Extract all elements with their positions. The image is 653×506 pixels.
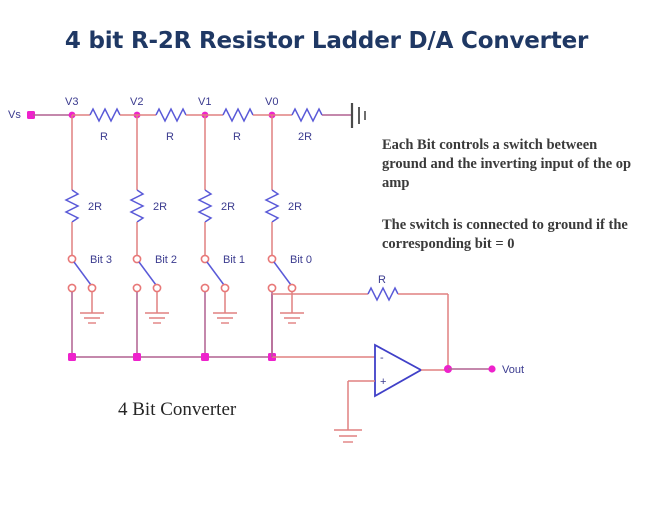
switch-terminal-left-bit3[interactable] xyxy=(68,284,75,291)
switch-terminal-left-bit0[interactable] xyxy=(268,284,275,291)
bus-node-dot-bit2 xyxy=(133,353,141,361)
opamp-noninverting-sign: + xyxy=(380,376,386,388)
resistor-label-r4: 2R xyxy=(298,131,312,143)
switch-label-bit0: Bit 0 xyxy=(290,254,312,266)
vout-label: Vout xyxy=(502,364,524,376)
slide-canvas: 4 bit R-2R Resistor Ladder D/A Converter… xyxy=(0,0,653,506)
vs-label: Vs xyxy=(8,109,21,121)
node-label-v0: V0 xyxy=(265,96,278,108)
switch-terminal-right-bit2[interactable] xyxy=(153,284,160,291)
ladder-branch-bit1: 2R Bit 1 xyxy=(199,115,245,357)
switch-terminal-left-bit2[interactable] xyxy=(133,284,140,291)
resistor-2r-branch4-zigzag xyxy=(266,190,278,222)
feedback-network-group: R xyxy=(272,274,448,367)
resistor-r1-zigzag xyxy=(90,109,120,121)
switch-terminal-right-bit0[interactable] xyxy=(288,284,295,291)
switch-pivot-bit2[interactable] xyxy=(133,255,140,262)
note-text-switch-ground: The switch is connected to ground if the… xyxy=(382,216,640,254)
switch-blade-bit2[interactable] xyxy=(139,262,156,285)
switch-blade-bit0[interactable] xyxy=(274,262,291,285)
resistor-label-2r-branch3: 2R xyxy=(221,201,235,213)
switch-pivot-bit0[interactable] xyxy=(268,255,275,262)
resistor-label-r3: R xyxy=(233,131,241,143)
ladder-branch-bit3: 2R Bit 3 xyxy=(66,115,112,357)
resistor-2r-branch2-zigzag xyxy=(131,190,143,222)
switch-terminal-right-bit1[interactable] xyxy=(221,284,228,291)
resistor-label-2r-branch4: 2R xyxy=(288,201,302,213)
ladder-branch-bit0: 2R Bit 0 xyxy=(266,115,312,357)
diagram-caption: 4 Bit Converter xyxy=(118,399,237,420)
top-rail-group: Vs xyxy=(8,96,365,143)
resistor-feedback-zigzag xyxy=(368,288,398,300)
switch-blade-bit3[interactable] xyxy=(74,262,91,285)
bus-node-dot-bit3 xyxy=(68,353,76,361)
resistor-label-2r-branch2: 2R xyxy=(153,201,167,213)
node-label-v3: V3 xyxy=(65,96,78,108)
resistor-label-2r-branch1: 2R xyxy=(88,201,102,213)
resistor-label-r1: R xyxy=(100,131,108,143)
switch-pivot-bit3[interactable] xyxy=(68,255,75,262)
switch-label-bit3: Bit 3 xyxy=(90,254,112,266)
node-label-v2: V2 xyxy=(130,96,143,108)
vout-terminal-dot xyxy=(488,365,495,372)
resistor-r4-zigzag xyxy=(292,109,322,121)
switch-blade-bit1[interactable] xyxy=(207,262,224,285)
note-text-switch-control: Each Bit controls a switch between groun… xyxy=(382,136,642,193)
resistor-label-feedback: R xyxy=(378,274,386,286)
resistor-2r-branch1-zigzag xyxy=(66,190,78,222)
opamp-inverting-sign: - xyxy=(380,352,384,364)
resistor-r3-zigzag xyxy=(223,109,253,121)
resistor-label-r2: R xyxy=(166,131,174,143)
ladder-branch-bit2: 2R Bit 2 xyxy=(131,115,177,357)
switch-terminal-left-bit1[interactable] xyxy=(201,284,208,291)
resistor-r2-zigzag xyxy=(156,109,186,121)
switch-label-bit2: Bit 2 xyxy=(155,254,177,266)
switch-label-bit1: Bit 1 xyxy=(223,254,245,266)
opamp-group: - + Vout xyxy=(334,345,524,442)
bus-node-dot-bit1 xyxy=(201,353,209,361)
switch-terminal-right-bit3[interactable] xyxy=(88,284,95,291)
resistor-2r-branch3-zigzag xyxy=(199,190,211,222)
node-label-v1: V1 xyxy=(198,96,211,108)
switch-pivot-bit1[interactable] xyxy=(201,255,208,262)
summing-bus-group xyxy=(68,353,375,361)
